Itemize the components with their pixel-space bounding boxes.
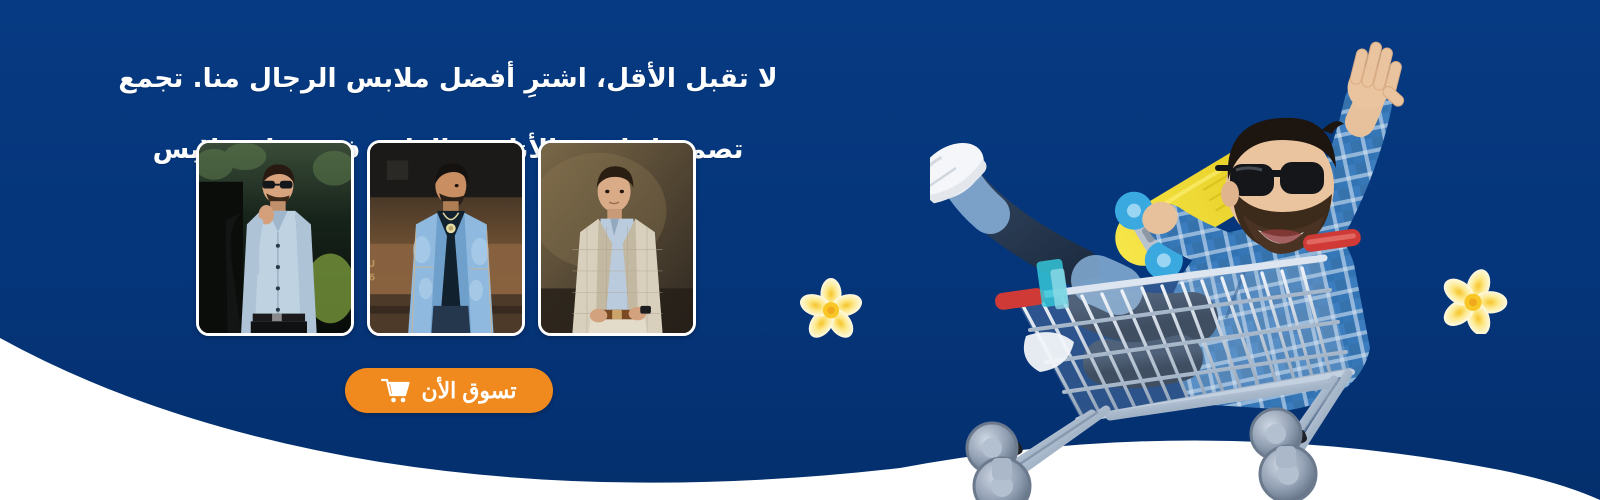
- headline-line-1: لا تقبل الأقل، اشترِ أفضل ملابس الرجال م…: [118, 61, 778, 96]
- promo-banner: لا تقبل الأقل، اشترِ أفضل ملابس الرجال م…: [0, 0, 1600, 500]
- product-thumbnail-1[interactable]: [538, 140, 696, 336]
- product-thumbnail-row: NOU916: [194, 140, 696, 336]
- svg-text:NOU: NOU: [370, 259, 375, 270]
- shopping-cart-icon: [381, 378, 411, 404]
- svg-text:916: 916: [370, 273, 375, 284]
- product-thumbnail-2[interactable]: NOU916: [367, 140, 525, 336]
- shop-now-button[interactable]: تسوق الأن: [345, 368, 553, 413]
- product-thumbnail-3[interactable]: [196, 140, 354, 336]
- shop-now-button-label: تسوق الأن: [421, 380, 516, 402]
